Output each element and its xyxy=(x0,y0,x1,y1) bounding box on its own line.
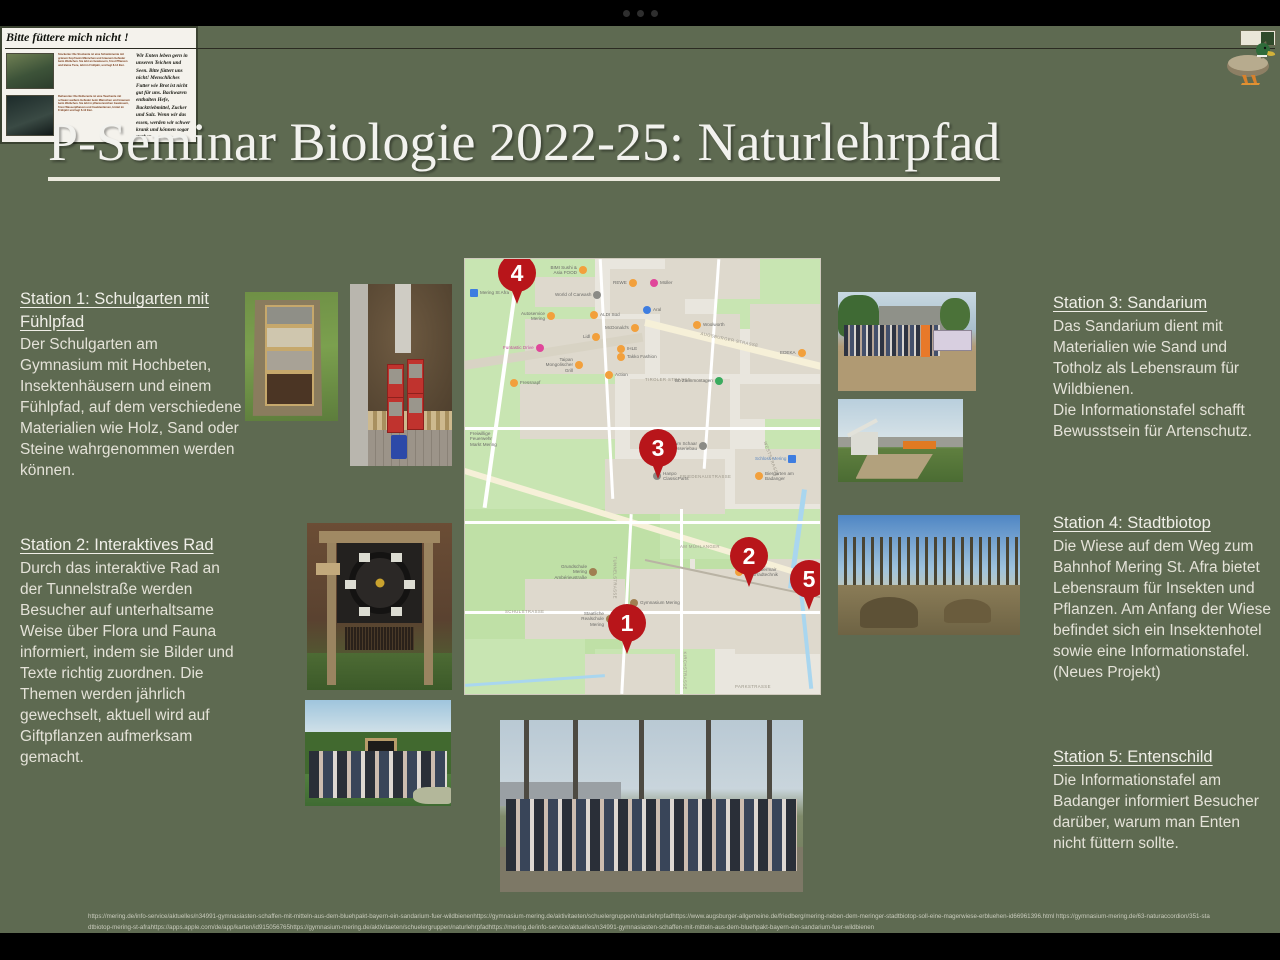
service-icon xyxy=(547,312,555,320)
duck-sign-photo-stockente xyxy=(6,53,54,89)
photo-layer-wall-left xyxy=(350,284,368,466)
map-poi-label: BIMI Sushi & Asia FOOD xyxy=(543,265,577,276)
shop-icon xyxy=(650,279,658,287)
photo-layer-wheelbarrow-3 xyxy=(387,397,404,433)
photo-layer-tree-right xyxy=(940,298,970,332)
map-poi-label: World of Carwash xyxy=(555,292,591,297)
landmark-icon xyxy=(788,455,796,463)
photo-layer-trees xyxy=(838,537,1020,585)
map-poi-label: Staatliche Realschule Mering xyxy=(570,611,604,627)
station-2-heading: Station 2: Interaktives Rad xyxy=(20,534,242,557)
photo-layer-wheelbarrow-1 xyxy=(387,364,404,400)
photo-layer-excavator xyxy=(851,432,879,455)
restaurant-icon xyxy=(755,472,763,480)
map-poi-grundschule-mering[interactable]: Grundschule Mering Ambérieustraße xyxy=(553,564,597,580)
photo-layer-wheelbarrow-2 xyxy=(407,359,424,395)
map-poi-label: Autoservice Mering xyxy=(511,311,545,322)
photo-layer-bed-gravel xyxy=(265,349,313,372)
photo-gruppe-am-rad xyxy=(305,700,451,806)
photo-layer-bed-bark xyxy=(265,372,313,406)
duck-sign-divider xyxy=(5,48,1275,49)
duck-sign-text-stockente: Stockente: Die Stockente ist eine Schwim… xyxy=(58,53,132,89)
duck-sign-text-reiherente: Reiherente: Die Reiherente ist eine Tauc… xyxy=(58,95,132,136)
map-poi-label: Lidl xyxy=(583,334,590,339)
photo-layer-pavement xyxy=(368,430,452,466)
map-marker-number: 5 xyxy=(790,560,821,598)
map-block-7 xyxy=(520,384,615,439)
map-marker-number: 1 xyxy=(608,604,646,642)
map-poi-mcdonalds[interactable]: McDonald's xyxy=(605,324,639,332)
map-poi-world-of-carwash[interactable]: World of Carwash xyxy=(555,291,601,299)
duck-sign-main-message-body: Wir Enten leben gern in unseren Teichen … xyxy=(136,53,192,136)
map-poi-label: Bb Zaunmontagen xyxy=(675,378,713,383)
photo-klassenfoto xyxy=(500,720,803,892)
map-poi-mueller[interactable]: Müller xyxy=(650,279,673,287)
photo-layer-blue-cart xyxy=(391,435,407,459)
station-3-heading: Station 3: Sandarium xyxy=(1053,292,1275,315)
photo-layer-bed-sand xyxy=(265,326,313,349)
map-poi-label: Freiwillige Feuerwehr Markt Mering xyxy=(470,431,504,447)
photo-layer-insect-hotel xyxy=(345,627,415,650)
map-road-friedenaustrasse xyxy=(465,521,821,524)
map-label-kirchstrasse: KIRCHSTRASSE xyxy=(683,652,688,690)
map-label-am-muehlanger: AM MÜHLANGER xyxy=(680,544,720,549)
map-poi-bimi-sushi[interactable]: BIMI Sushi & Asia FOOD xyxy=(543,265,587,276)
map-poi-lidl[interactable]: Lidl xyxy=(583,333,600,341)
photo-layer-card-2 xyxy=(391,553,402,562)
window-dot-1 xyxy=(623,10,630,17)
photo-layer-info-sign xyxy=(933,330,972,352)
map-block-9 xyxy=(740,384,821,419)
photo-layer-card-6 xyxy=(391,607,402,616)
service-icon xyxy=(699,442,707,450)
photo-layer-bed-stones xyxy=(265,305,313,326)
window-dot-3 xyxy=(651,10,658,17)
map-poi-funtastic-drive[interactable]: Funtastic Drive xyxy=(503,344,544,352)
mallard-duck-icon xyxy=(1218,39,1276,87)
restaurant-icon xyxy=(631,324,639,332)
duck-sign-photo-reiherente xyxy=(6,95,54,136)
window-title-bar xyxy=(0,0,1280,26)
map-marker-4[interactable]: 4 xyxy=(498,258,536,304)
station-4-block: Station 4: Stadtbiotop Die Wiese auf dem… xyxy=(1053,512,1275,683)
service-icon xyxy=(715,377,723,385)
map-poi-taipan-grill[interactable]: Taipan Mongolischer Grill xyxy=(539,357,583,373)
map-poi-label: Grundschule Mering Ambérieustraße xyxy=(553,564,587,580)
station-3-block: Station 3: Sandarium Das Sandarium dient… xyxy=(1053,292,1275,442)
duck-sign-main-message: Wir Enten leben gern in unseren Teichen … xyxy=(136,53,192,136)
shop-icon xyxy=(592,333,600,341)
station-2-block: Station 2: Interaktives Rad Durch das in… xyxy=(20,534,242,768)
photo-schulgarten-baustelle xyxy=(350,284,452,466)
station-1-block: Station 1: Schulgarten mit Fühlpfad Der … xyxy=(20,288,242,481)
map-poi-label: EDEKA xyxy=(780,350,796,355)
map-poi-label: Biergarten am Badanger xyxy=(765,471,799,482)
shop-icon xyxy=(693,321,701,329)
page-title: P-Seminar Biologie 2022-25: Naturlehrpfa… xyxy=(48,111,1238,181)
map-marker-number: 3 xyxy=(639,429,677,467)
school-icon xyxy=(589,568,597,576)
photo-layer-card-5 xyxy=(359,607,370,616)
map-poi-label: Schloss Mering xyxy=(755,456,786,461)
screenshot-root: P-Seminar Biologie 2022-25: Naturlehrpfa… xyxy=(0,0,1280,960)
map-poi-bb-zaunmontagen[interactable]: Bb Zaunmontagen xyxy=(675,377,723,385)
photo-layer-post-right xyxy=(424,531,433,685)
duck-sign-text-reiherente-body: Reiherente: Die Reiherente ist eine Tauc… xyxy=(58,95,132,113)
restaurant-icon xyxy=(579,266,587,274)
photo-schulgarten-fuehlpfad xyxy=(245,292,338,421)
map-marker-number: 2 xyxy=(730,537,768,575)
map-poi-edeka[interactable]: EDEKA xyxy=(780,349,806,357)
map-poi-ihle[interactable]: IHLE xyxy=(617,345,637,353)
photo-entenschild: Bitte füttere mich nicht ! Stockente: Di… xyxy=(0,26,198,144)
map-poi-aral[interactable]: Aral xyxy=(643,306,661,314)
shop-icon xyxy=(629,279,637,287)
shop-icon xyxy=(617,353,625,361)
photo-layer-post-left xyxy=(327,531,336,685)
map-block-3 xyxy=(665,259,760,299)
photo-layer-mound-1 xyxy=(860,597,918,628)
map-label-parkstrasse: PARKSTRASSE xyxy=(735,684,771,689)
photo-layer-wall-mid xyxy=(395,284,411,353)
photo-layer-worker-orange xyxy=(921,325,931,358)
map-poi-fressnapf[interactable]: Fressnapf xyxy=(510,379,540,387)
map-poi-woolworth[interactable]: Woolworth xyxy=(693,321,725,329)
shop-icon xyxy=(510,379,518,387)
map-poi-label: Müller xyxy=(660,280,673,285)
map-mering[interactable]: AUGSBURGER STRASSE FRIEDENAUSTRASSE TUNN… xyxy=(464,258,821,695)
map-poi-label: Fressnapf xyxy=(520,380,540,385)
photo-interaktives-rad xyxy=(307,523,452,690)
station-5-block: Station 5: Entenschild Die Informationst… xyxy=(1053,746,1275,854)
map-poi-action[interactable]: Action xyxy=(605,371,628,379)
photo-layer-truck xyxy=(903,441,936,449)
photo-stadtbiotop-wiese xyxy=(838,515,1020,635)
station-3-body: Das Sandarium dient mit Materialien wie … xyxy=(1053,316,1275,442)
station-5-heading: Station 5: Entenschild xyxy=(1053,746,1275,769)
photo-layer-students xyxy=(506,799,797,871)
map-poi-label: Funtastic Drive xyxy=(503,345,534,350)
map-marker-number: 4 xyxy=(498,258,536,292)
window-dot-2 xyxy=(637,10,644,17)
map-poi-label: McDonald's xyxy=(605,325,629,330)
presentation-slide: P-Seminar Biologie 2022-25: Naturlehrpfa… xyxy=(0,26,1280,933)
restaurant-icon xyxy=(575,361,583,369)
photo-sandarium-einweihung xyxy=(838,292,976,391)
map-poi-label: Woolworth xyxy=(703,322,725,327)
map-label-schulstrasse: SCHULSTRASSE xyxy=(505,609,544,614)
map-poi-label: ALDI Süd xyxy=(600,312,620,317)
map-poi-feuerwehr[interactable]: Freiwillige Feuerwehr Markt Mering xyxy=(470,431,504,447)
duck-sign-title: Bitte füttere mich nicht ! xyxy=(6,30,129,45)
station-1-body: Der Schulgarten am Gymnasium mit Hochbet… xyxy=(20,334,242,481)
footer-sources: https://mering.de/info-service/aktuelles… xyxy=(88,912,1213,933)
map-green-sports xyxy=(465,639,585,695)
map-marker-1[interactable]: 1 xyxy=(608,604,646,654)
photo-layer-card-3 xyxy=(345,580,356,589)
photo-sandarium-bagger xyxy=(838,399,963,482)
map-poi-autoservice-mering[interactable]: Autoservice Mering xyxy=(511,311,555,322)
shop-icon xyxy=(798,349,806,357)
leisure-icon xyxy=(536,344,544,352)
fuel-icon xyxy=(643,306,651,314)
map-marker-2[interactable]: 2 xyxy=(730,537,768,587)
map-poi-label: Aral xyxy=(653,307,661,312)
station-1-heading: Station 1: Schulgarten mit Fühlpfad xyxy=(20,288,242,333)
map-poi-biergarten-am-badanger[interactable]: Biergarten am Badanger xyxy=(755,471,799,482)
map-poi-rewe[interactable]: REWE xyxy=(613,279,637,287)
station-4-body: Die Wiese auf dem Weg zum Bahnhof Mering… xyxy=(1053,536,1275,683)
photo-layer-card-4 xyxy=(404,580,415,589)
shop-icon xyxy=(617,345,625,353)
map-poi-label: IHLE xyxy=(627,346,637,351)
train-station-icon xyxy=(470,289,478,297)
photo-layer-sand xyxy=(838,351,976,391)
station-4-heading: Station 4: Stadtbiotop xyxy=(1053,512,1275,535)
photo-layer-wheelbarrow-4 xyxy=(407,393,424,429)
station-2-body: Durch das interaktive Rad an der Tunnels… xyxy=(20,558,242,768)
map-poi-schloss-mering[interactable]: Schloss Mering xyxy=(755,455,796,463)
map-marker-5[interactable]: 5 xyxy=(790,560,821,610)
map-poi-label: Taipan Mongolischer Grill xyxy=(539,357,573,373)
station-5-body: Die Informationstafel am Badanger inform… xyxy=(1053,770,1275,854)
shop-icon xyxy=(605,371,613,379)
service-icon xyxy=(593,291,601,299)
photo-layer-card-1 xyxy=(359,553,370,562)
window-bottom-bar xyxy=(0,933,1280,960)
map-poi-aldi-sued[interactable]: ALDI Süd xyxy=(590,311,620,319)
photo-layer-wooden-sign xyxy=(316,563,341,575)
photo-layer-boat xyxy=(413,787,451,804)
map-poi-label: Action xyxy=(615,372,628,377)
shop-icon xyxy=(590,311,598,319)
map-label-tunnelstrasse: TUNNELSTRASSE xyxy=(613,557,618,599)
map-poi-takko-fashion[interactable]: Takko Fashion xyxy=(617,353,657,361)
map-poi-label: REWE xyxy=(613,280,627,285)
photo-layer-beam xyxy=(319,531,441,543)
duck-sign-text-stockente-body: Stockente: Die Stockente ist eine Schwim… xyxy=(58,53,132,67)
photo-layer-mound-2 xyxy=(944,599,991,623)
map-marker-3[interactable]: 3 xyxy=(639,429,677,479)
map-poi-label: Takko Fashion xyxy=(627,354,657,359)
